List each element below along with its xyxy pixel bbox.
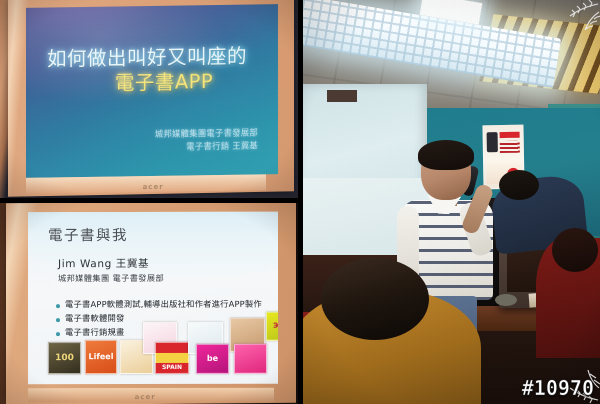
audience-member-foreground-head <box>321 258 429 340</box>
panel-divider-vertical <box>298 0 303 404</box>
projected-slide-screen-2: 電子書與我 Jim Wang 王冀基 城邦媒體集團 電子書發展部 電子書APP軟… <box>28 212 278 384</box>
panel-slide-title: 如何做出叫好又叫座的 電子書APP 城邦媒體集團電子書發展部 電子書行銷 王冀基… <box>0 0 298 198</box>
slide-title-line1: 如何做出叫好又叫座的 <box>26 46 268 70</box>
acer-logo: acer <box>135 393 156 401</box>
list-item: 電子書APP軟體測試,輔導出版社和作者進行APP製作 <box>56 300 270 310</box>
slide-title-line2: 電子書APP <box>60 72 268 96</box>
app-thumbnail: 100 <box>48 342 81 374</box>
photo-collage: 如何做出叫好又叫座的 電子書APP 城邦媒體集團電子書發展部 電子書行銷 王冀基… <box>0 0 600 404</box>
slide-title-block: 如何做出叫好又叫座的 電子書APP <box>26 46 268 96</box>
slide-subtitle-line2: 電子書行銷 王冀基 <box>155 139 258 153</box>
computer-mouse <box>495 294 517 306</box>
app-thumbnail-label: 100 <box>55 354 74 363</box>
watermark-id: #10970 <box>522 376 594 400</box>
app-thumbnail-label: be <box>207 355 218 363</box>
presenter-hair <box>418 140 474 170</box>
crt-monitor-base <box>327 90 357 102</box>
app-thumbnail: ЭAC <box>266 312 278 341</box>
poster-headline-bar <box>500 132 520 138</box>
bullet-text: 電子書APP軟體測試,輔導出版社和作者進行APP製作 <box>65 300 262 310</box>
audience-member-back-head <box>499 170 539 200</box>
slide-subtitle-line1: 城邦媒體集團電子書發展部 <box>155 126 258 140</box>
app-thumbnail-label: ЭAC <box>273 323 278 330</box>
app-thumbnail-label: Lifeel <box>89 353 114 361</box>
slide2-title: 電子書與我 <box>48 224 128 245</box>
acer-logo: acer <box>143 183 164 191</box>
app-thumbnail: be <box>196 344 229 374</box>
slide-subtitle-block: 城邦媒體集團電子書發展部 電子書行銷 王冀基 <box>155 126 258 153</box>
poster-text-lines <box>500 141 520 153</box>
app-thumbnail-label: SPAIN <box>156 365 188 371</box>
app-thumbnail-row: 100 Lifeel SPAIN be <box>48 320 274 378</box>
presenter-department: 城邦媒體集團 電子書發展部 <box>58 272 164 284</box>
app-thumbnail <box>234 344 267 374</box>
panel-presenter-photo: #10970 <box>303 0 600 404</box>
panel-divider-horizontal <box>0 198 298 203</box>
monitor-bezel: 如何做出叫好又叫座的 電子書APP 城邦媒體集團電子書發展部 電子書行銷 王冀基… <box>8 0 294 197</box>
monitor-bezel-2: 電子書與我 Jim Wang 王冀基 城邦媒體集團 電子書發展部 電子書APP軟… <box>6 202 296 404</box>
panel-slide-about: 電子書與我 Jim Wang 王冀基 城邦媒體集團 電子書發展部 電子書APP軟… <box>0 202 298 404</box>
app-thumbnail: SPAIN <box>155 342 189 374</box>
audience-member-right-head <box>552 228 598 272</box>
projected-slide-screen: 如何做出叫好又叫座的 電子書APP 城邦媒體集團電子書發展部 電子書行銷 王冀基 <box>26 4 278 178</box>
app-thumbnail: Lifeel <box>85 340 117 374</box>
presenter-name: Jim Wang 王冀基 <box>58 256 149 271</box>
bullet-dot-icon <box>56 304 60 308</box>
